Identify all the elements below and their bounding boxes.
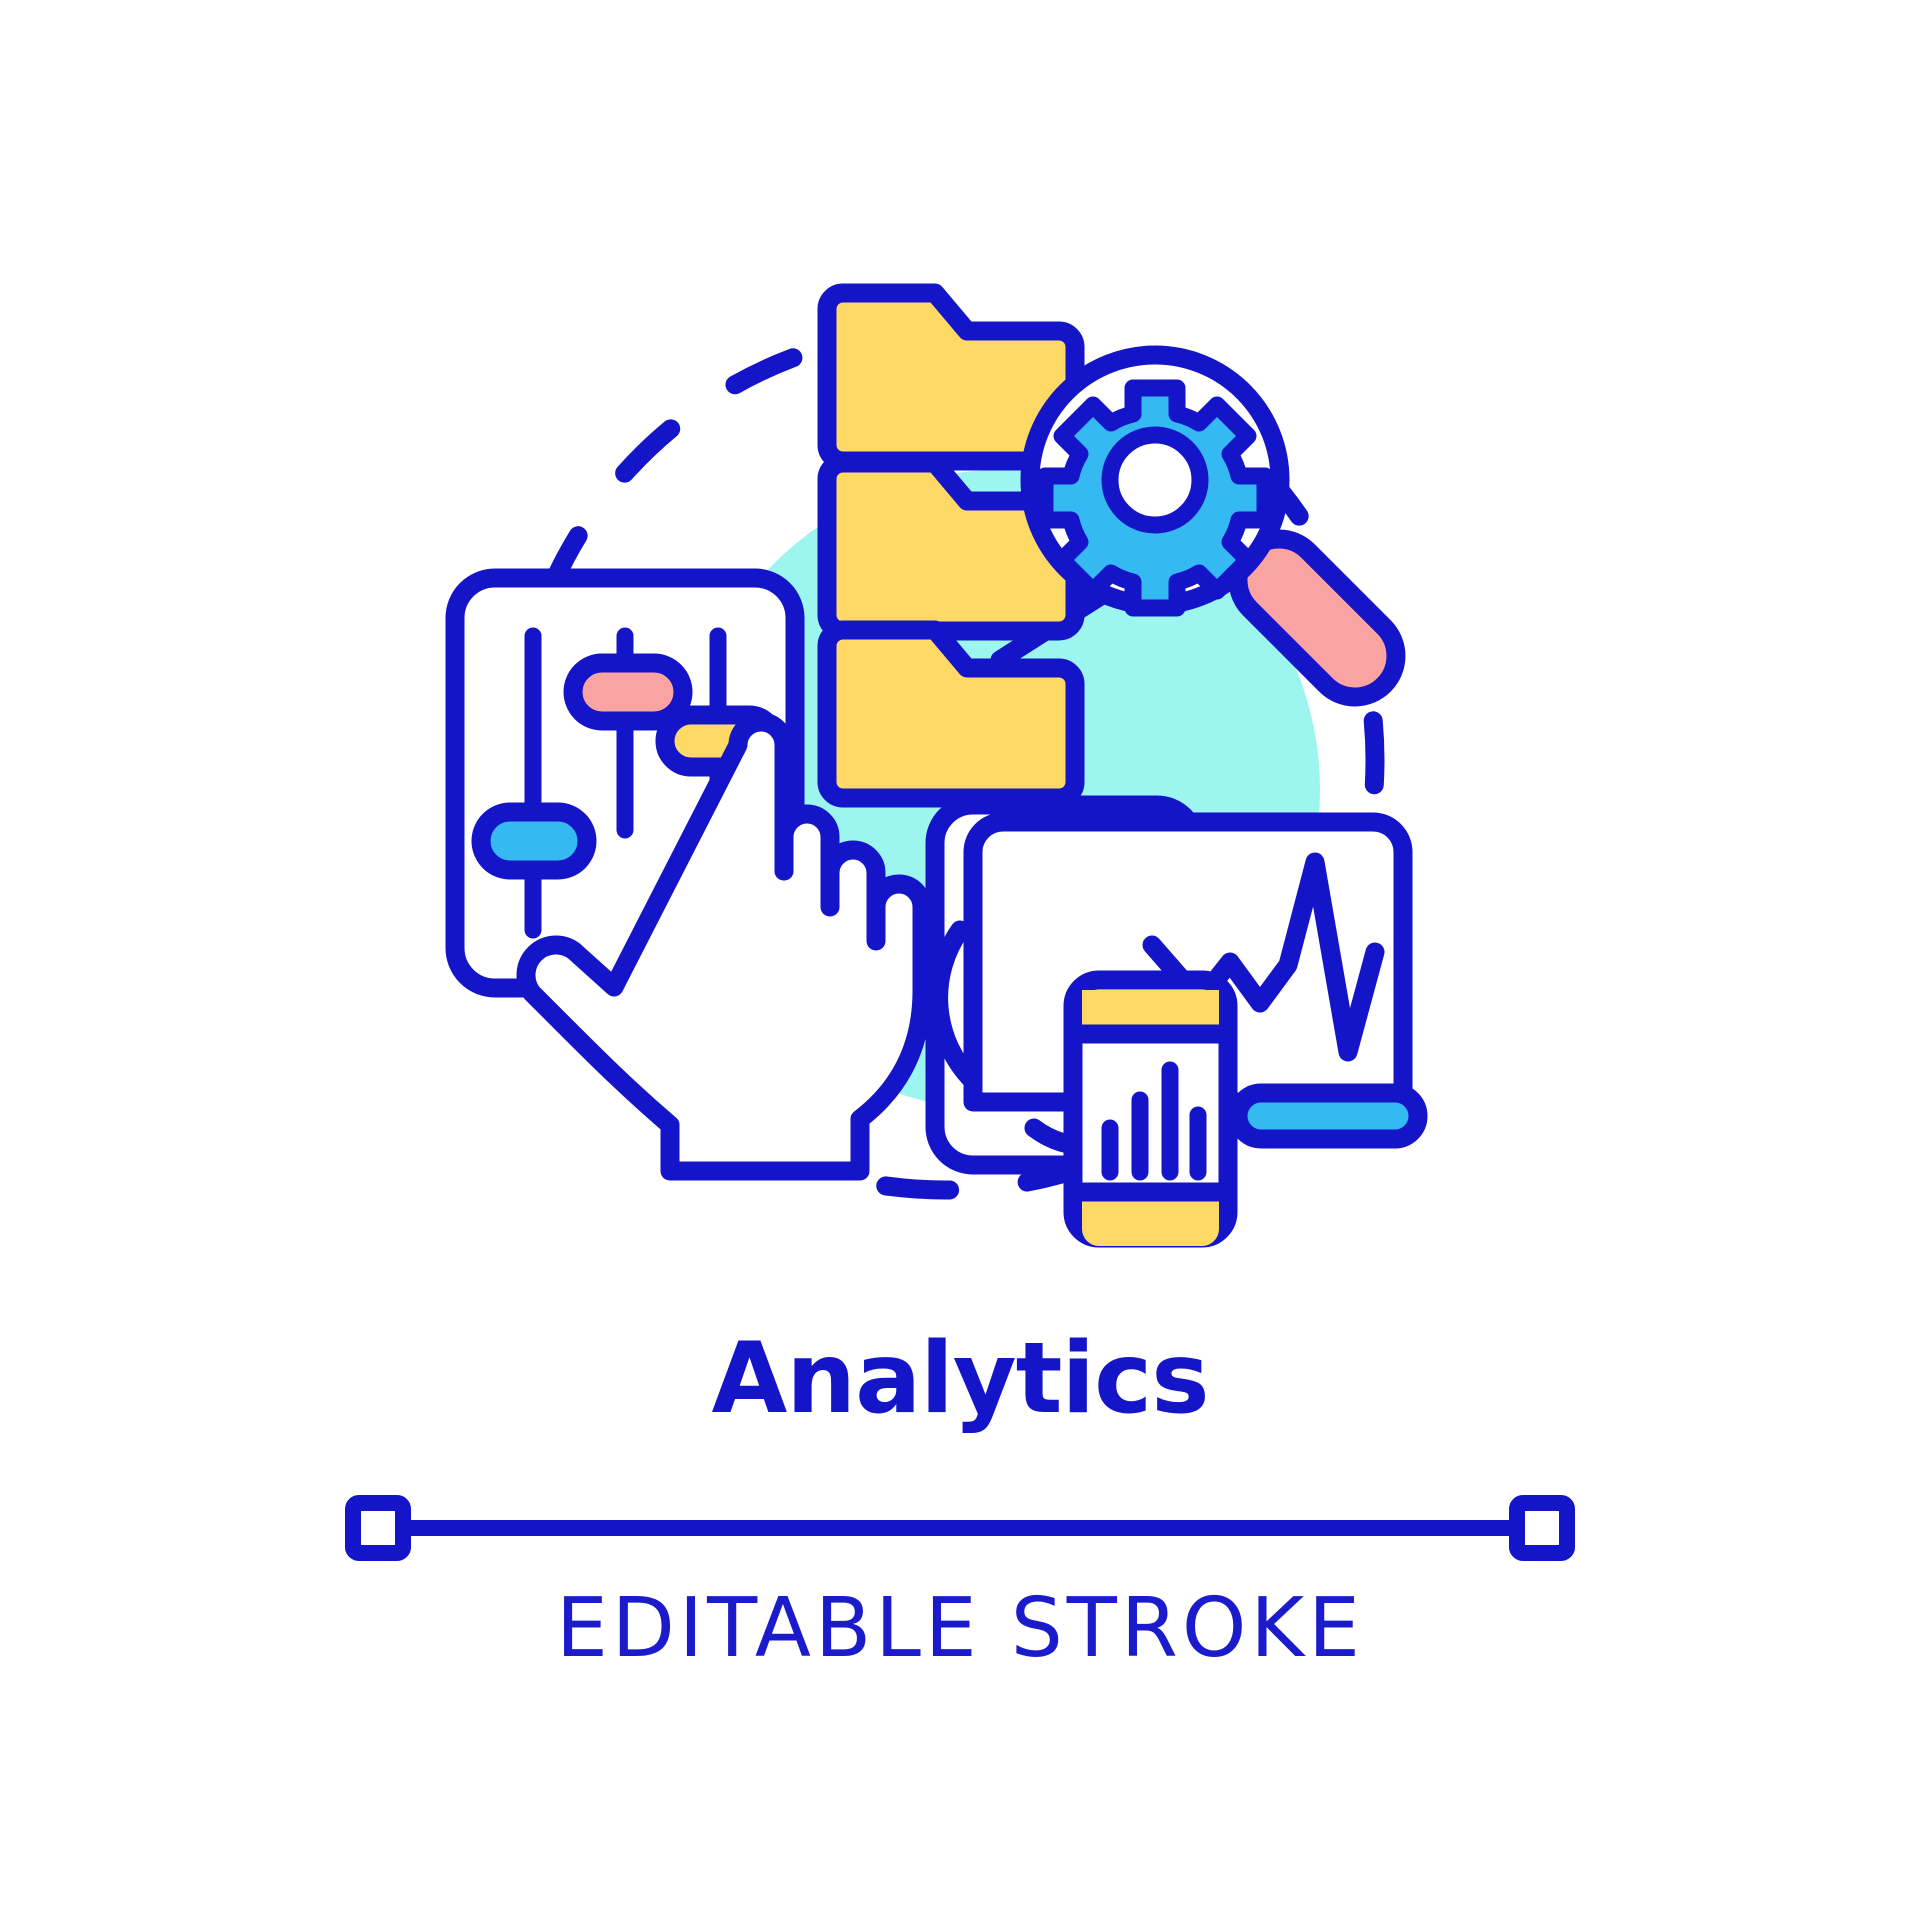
gear-icon [1045, 388, 1265, 608]
phone-top-band [1082, 990, 1219, 1034]
stroke-handle-right [1517, 1503, 1567, 1553]
slider-knob-2[interactable] [573, 663, 683, 721]
page-title: Analytics [0, 1330, 1920, 1428]
concept-icon-canvas: Analytics EDITABLE STROKE [0, 0, 1920, 1920]
slider-knob-1[interactable] [481, 812, 587, 870]
editable-stroke-line[interactable] [353, 1503, 1567, 1553]
editable-stroke-caption: EDITABLE STROKE [0, 1588, 1920, 1670]
laptop-base [1238, 1093, 1418, 1139]
stroke-handle-left [353, 1503, 403, 1553]
phone-bottom-band [1082, 1192, 1219, 1246]
